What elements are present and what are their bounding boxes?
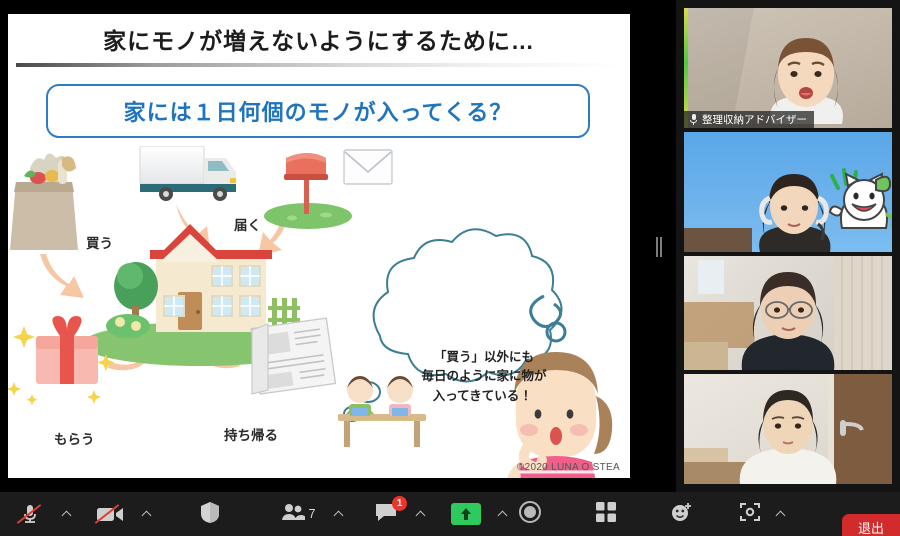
delivery-truck-illustration (140, 146, 236, 201)
video-off-icon (95, 503, 125, 525)
label-deliver: 届く (234, 214, 261, 234)
reactions-button[interactable] (662, 492, 702, 536)
video-options-chevron-icon[interactable] (138, 492, 154, 536)
participants-button[interactable]: 7 (270, 492, 326, 536)
envelope-illustration (344, 150, 392, 184)
mute-audio-button[interactable] (10, 492, 50, 536)
share-options-chevron-icon[interactable] (494, 492, 510, 536)
reactions-icon (670, 500, 694, 529)
focus-chevron-icon[interactable] (772, 492, 788, 536)
thought-bubble-line-1: 「買う」以外にも (384, 348, 584, 367)
microphone-muted-icon (17, 501, 43, 527)
shared-screen-stage[interactable]: 家にモノが増えないようにするために… 家には１日何個のモノが入ってくる？ (0, 0, 676, 492)
participants-filmstrip[interactable]: 整理収納アドバイザー (676, 0, 900, 492)
microphone-muted-icon (689, 114, 698, 125)
label-receive: もらう (54, 428, 95, 448)
video-tile-participant-2[interactable] (684, 132, 892, 252)
chat-chevron-icon[interactable] (412, 492, 428, 536)
label-bring-home: 持ち帰る (224, 424, 278, 444)
grocery-bag-illustration (10, 153, 78, 250)
focus-mode-button[interactable] (730, 492, 770, 536)
thought-bubble-line-3: 入ってきている ！ (384, 387, 584, 406)
newspaper-illustration (251, 318, 335, 394)
cat-mascot-illustration (830, 170, 892, 228)
copyright-notice: ©2020 LUNA O STEA (517, 462, 620, 473)
participants-icon (281, 503, 305, 526)
shield-icon (199, 500, 221, 529)
stop-video-button[interactable] (90, 492, 130, 536)
participant-1-video (684, 8, 892, 128)
video-tile-participant-1[interactable]: 整理収納アドバイザー (684, 8, 892, 128)
security-button[interactable] (190, 492, 230, 536)
zoom-meeting-window: 家にモノが増えないようにするために… 家には１日何個のモノが入ってくる？ (0, 0, 900, 536)
thought-bubble-line-2: 毎日のように家に物が (384, 367, 584, 386)
slide-illustration: 買う 届く もらう 持ち帰る 「買う」以外にも 毎日のように家に物が 入ってきて… (8, 146, 630, 478)
mailbox-illustration (264, 153, 352, 229)
meeting-toolbar[interactable]: 7 1 (0, 492, 900, 536)
participant-3-video (684, 256, 892, 370)
participant-1-name-tag: 整理収納アドバイザー (684, 111, 814, 128)
participants-count: 7 (309, 507, 316, 521)
thought-bubble-text: 「買う」以外にも 毎日のように家に物が 入ってきている ！ (384, 348, 584, 406)
video-tile-participant-4[interactable] (684, 374, 892, 484)
share-screen-icon (451, 503, 481, 525)
participants-chevron-icon[interactable] (330, 492, 346, 536)
label-buy: 買う (86, 232, 113, 252)
gift-box-illustration (8, 316, 115, 405)
chat-unread-badge: 1 (392, 496, 407, 511)
slide-header: 家にモノが増えないようにするために… (8, 14, 630, 62)
question-callout-box: 家には１日何個のモノが入ってくる？ (46, 84, 590, 138)
presentation-slide: 家にモノが増えないようにするために… 家には１日何個のモノが入ってくる？ (8, 14, 630, 478)
title-divider (16, 63, 622, 67)
participant-2-video (684, 132, 892, 252)
chat-button[interactable]: 1 (366, 492, 406, 536)
resize-grip-bar (656, 237, 658, 257)
question-text: 家には１日何個のモノが入ってくる？ (124, 95, 513, 127)
audio-options-chevron-icon[interactable] (58, 492, 74, 536)
illustration-svg (8, 146, 630, 478)
resize-grip-bar (660, 237, 662, 257)
focus-mode-icon (738, 501, 762, 528)
panel-resize-handle[interactable] (655, 236, 663, 258)
share-screen-button[interactable] (446, 492, 486, 536)
breakout-rooms-icon (595, 501, 617, 528)
record-button[interactable] (510, 492, 550, 536)
slide-title: 家にモノが増えないようにするために… (8, 22, 630, 56)
leave-meeting-button[interactable]: 退出 (842, 514, 900, 536)
record-icon (518, 500, 542, 529)
participant-4-video (684, 374, 892, 484)
breakout-rooms-button[interactable] (586, 492, 626, 536)
chat-icon: 1 (374, 502, 398, 527)
video-tile-participant-3[interactable] (684, 256, 892, 370)
participant-1-name: 整理収納アドバイザー (702, 112, 807, 127)
